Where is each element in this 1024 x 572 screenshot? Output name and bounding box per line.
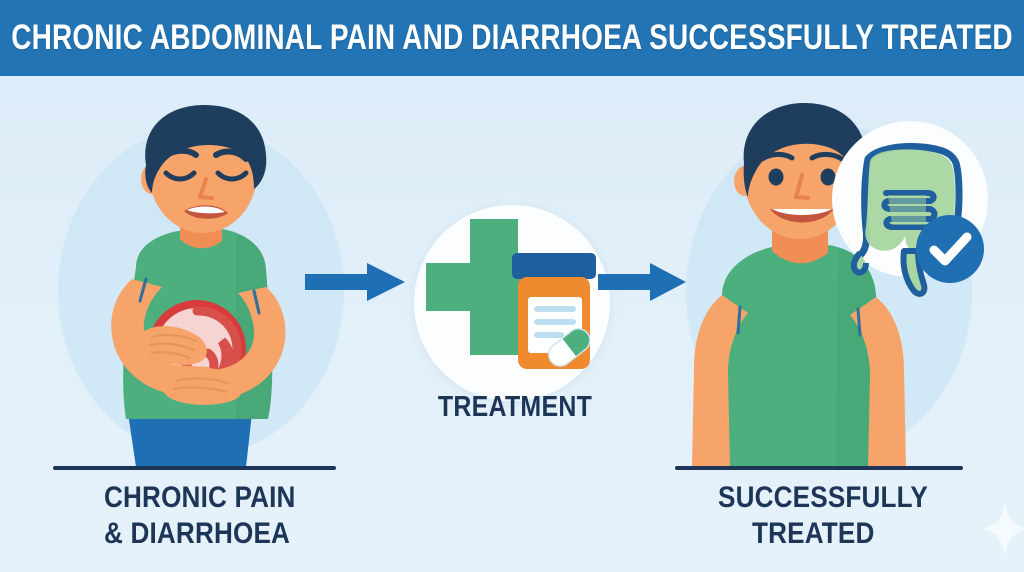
right-eye — [821, 169, 836, 186]
bottle-cap — [512, 253, 596, 279]
after-caption-line1: SUCCESSFULLY — [718, 480, 928, 516]
before-ground-line — [53, 466, 336, 470]
sparkle-star — [982, 501, 1024, 557]
pill-bottle-icon — [512, 253, 596, 371]
header-banner: CHRONIC ABDOMINAL PAIN AND DIARRHOEA SUC… — [0, 0, 1024, 76]
left-sleeve-seam — [738, 307, 740, 333]
pants — [128, 413, 252, 467]
before-caption-line2: & DIARRHOEA — [104, 516, 296, 552]
right-sleeve-seam — [858, 309, 860, 335]
man-with-abdominal-pain — [40, 101, 350, 471]
healthy-smiling-man — [660, 101, 990, 471]
page-title: CHRONIC ABDOMINAL PAIN AND DIARRHOEA SUC… — [102, 0, 921, 76]
after-caption-line2: TREATED — [752, 516, 932, 552]
infographic-page: CHRONIC ABDOMINAL PAIN AND DIARRHOEA SUC… — [0, 0, 1024, 572]
after-ground-line — [675, 466, 963, 470]
after-caption: SUCCESSFULLY TREATED — [718, 480, 959, 552]
illustration-stage: TREATMENT — [0, 76, 1024, 572]
left-eye — [769, 169, 784, 186]
before-caption-line1: CHRONIC PAIN — [104, 480, 296, 516]
treatment-label: TREATMENT — [408, 391, 623, 424]
before-caption: CHRONIC PAIN & DIARRHOEA — [104, 480, 324, 552]
arrow-before-to-treatment — [305, 261, 405, 303]
check-badge-icon — [916, 215, 984, 283]
treatment-icon — [414, 205, 610, 405]
healthy-intestines-badge — [832, 121, 988, 294]
